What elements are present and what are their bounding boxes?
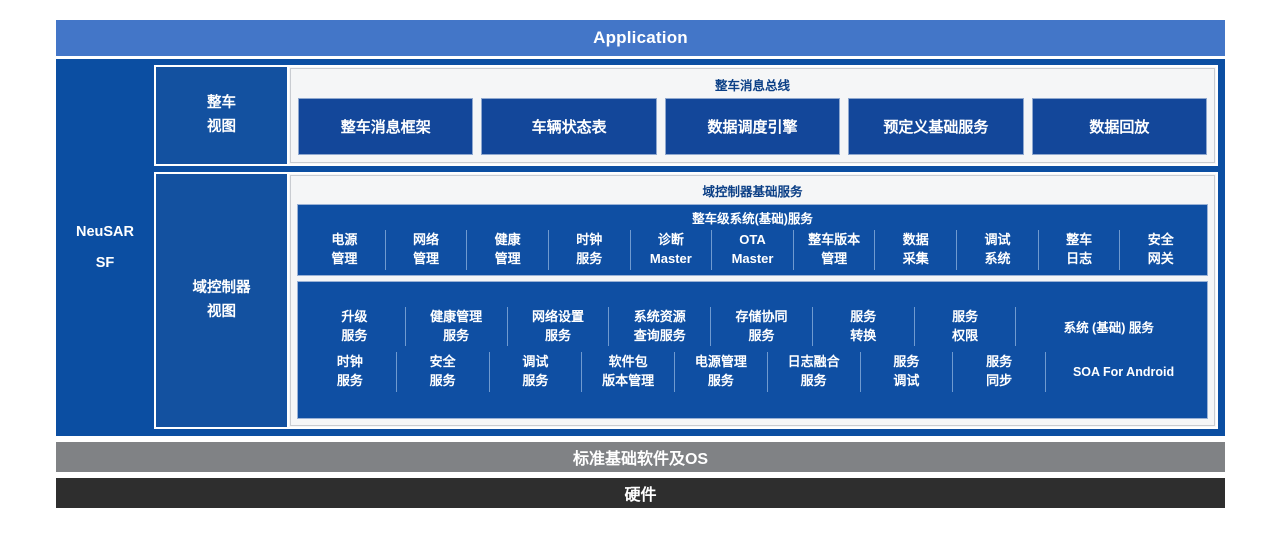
system-level-services-row-2: 时钟 服务 安全 服务 调试 服务 — [304, 352, 1201, 392]
vehicle-message-bus-items: 整车消息框架 车辆状态表 数据调度引擎 预定义基础服务 数据回放 — [298, 98, 1207, 155]
service-ota-master[interactable]: OTA Master — [712, 230, 794, 270]
service-log-fusion[interactable]: 日志融合 服务 — [768, 352, 861, 392]
service-line2: 日志 — [1066, 250, 1092, 269]
service-sync[interactable]: 服务 同步 — [953, 352, 1046, 392]
service-line2: 服务 — [749, 327, 775, 346]
bus-item-predefined-base-service[interactable]: 预定义基础服务 — [848, 98, 1023, 155]
service-line1: 安全 — [430, 353, 456, 372]
service-line2: 查询服务 — [634, 327, 686, 346]
neusar-sf-label-line1: NeuSAR — [76, 217, 134, 247]
service-line2: 服务 — [801, 372, 827, 391]
service-line2: 管理 — [413, 250, 439, 269]
service-line2: 服务 — [522, 372, 548, 391]
service-line1: 日志融合 — [788, 353, 840, 372]
service-line1: 电源 — [331, 231, 357, 250]
service-system-resource-query[interactable]: 系统资源 查询服务 — [609, 307, 711, 347]
service-line1: 网络设置 — [532, 308, 584, 327]
hardware-label: 硬件 — [624, 481, 656, 505]
service-power-management[interactable]: 电源 管理 — [304, 230, 386, 270]
vehicle-level-services-row: 电源 管理 网络 管理 健康 管理 — [304, 230, 1201, 270]
service-line1: 网络 — [413, 231, 439, 250]
service-clock-sys[interactable]: 时钟 服务 — [304, 352, 397, 392]
service-line1: 健康 — [495, 231, 521, 250]
vehicle-level-services-block: 整车级系统(基础)服务 电源 管理 网络 管理 — [297, 204, 1208, 276]
neusar-sf-label-line2: SF — [96, 248, 115, 278]
service-line1: 诊断 — [658, 231, 684, 250]
domain-controller-view-label-line2: 视图 — [207, 301, 236, 325]
service-line2: 同步 — [986, 372, 1012, 391]
domain-controller-view-row: 域控制器 视图 域控制器基础服务 整车级系统(基础)服务 电源 — [154, 172, 1218, 429]
service-line2: 转换 — [850, 327, 876, 346]
service-line1: 时钟 — [576, 231, 602, 250]
service-line2: 版本管理 — [602, 372, 654, 391]
system-base-services-caption: 系统 (基础) 服务 — [1016, 307, 1201, 347]
service-line2: 权限 — [952, 327, 978, 346]
service-line2: 系统 — [984, 250, 1010, 269]
service-line1: 系统资源 — [634, 308, 686, 327]
service-line1: 升级 — [341, 308, 367, 327]
standard-base-software-os-label: 标准基础软件及OS — [573, 445, 708, 469]
service-line2: 服务 — [430, 372, 456, 391]
service-line1: 安全 — [1148, 231, 1174, 250]
service-line2: 服务 — [443, 327, 469, 346]
service-debug-system[interactable]: 调试 系统 — [957, 230, 1039, 270]
service-line1: 调试 — [522, 353, 548, 372]
domain-controller-view-content: 域控制器基础服务 整车级系统(基础)服务 电源 管理 — [289, 174, 1216, 427]
service-line2: 采集 — [903, 250, 929, 269]
service-line2: 管理 — [495, 250, 521, 269]
standard-base-software-os-bar: 标准基础软件及OS — [56, 442, 1225, 472]
service-line2: 服务 — [708, 372, 734, 391]
service-upgrade[interactable]: 升级 服务 — [304, 307, 406, 347]
service-line1: OTA — [739, 231, 765, 250]
service-diagnostic-master[interactable]: 诊断 Master — [631, 230, 713, 270]
service-line1: 调试 — [984, 231, 1010, 250]
service-line2: 服务 — [545, 327, 571, 346]
domain-controller-view-label: 域控制器 视图 — [156, 174, 289, 427]
system-level-services-row-1: 升级 服务 健康管理 服务 网络设置 服务 — [304, 307, 1201, 347]
vehicle-view-content: 整车消息总线 整车消息框架 车辆状态表 数据调度引擎 预定义基础服务 数据回放 — [289, 67, 1216, 164]
vehicle-view-label-line2: 视图 — [207, 116, 236, 140]
service-line2: Master — [650, 250, 692, 269]
application-layer-bar: Application — [56, 20, 1225, 56]
bus-item-vehicle-state-table[interactable]: 车辆状态表 — [481, 98, 656, 155]
service-line2: Master — [732, 250, 774, 269]
service-conversion[interactable]: 服务 转换 — [813, 307, 915, 347]
service-power-management-sys[interactable]: 电源管理 服务 — [675, 352, 768, 392]
system-level-services-block: 升级 服务 健康管理 服务 网络设置 服务 — [297, 281, 1208, 419]
service-line2: 服务 — [341, 327, 367, 346]
soa-for-android-caption: SOA For Android — [1046, 352, 1201, 392]
vehicle-message-bus-panel: 整车消息总线 整车消息框架 车辆状态表 数据调度引擎 预定义基础服务 数据回放 — [290, 68, 1215, 163]
architecture-diagram: Application NeuSAR SF 整车 视图 整 — [56, 20, 1225, 508]
service-line1: 整车版本 — [808, 231, 860, 250]
service-debug-2[interactable]: 服务 调试 — [861, 352, 954, 392]
service-line1: 健康管理 — [430, 308, 482, 327]
service-software-package-version-management[interactable]: 软件包 版本管理 — [582, 352, 675, 392]
service-line1: 存储协同 — [736, 308, 788, 327]
service-storage-collaboration[interactable]: 存储协同 服务 — [711, 307, 813, 347]
application-layer-label: Application — [593, 28, 688, 48]
service-line1: 服务 — [893, 353, 919, 372]
service-health-management-sys[interactable]: 健康管理 服务 — [406, 307, 508, 347]
vehicle-view-label: 整车 视图 — [156, 67, 289, 164]
service-vehicle-version-management[interactable]: 整车版本 管理 — [794, 230, 876, 270]
service-line1: 时钟 — [337, 353, 363, 372]
hardware-bar: 硬件 — [56, 478, 1225, 508]
service-permission[interactable]: 服务 权限 — [915, 307, 1017, 347]
bus-item-data-scheduling-engine[interactable]: 数据调度引擎 — [665, 98, 840, 155]
diagram-canvas: Application NeuSAR SF 整车 视图 整 — [0, 0, 1280, 536]
domain-controller-view-label-line1: 域控制器 — [193, 277, 251, 301]
vehicle-level-services-heading: 整车级系统(基础)服务 — [304, 208, 1201, 230]
service-line2: 服务 — [576, 250, 602, 269]
service-network-settings[interactable]: 网络设置 服务 — [508, 307, 610, 347]
service-line2: 服务 — [337, 372, 363, 391]
vehicle-message-bus-title: 整车消息总线 — [298, 73, 1207, 98]
domain-controller-base-services-panel: 域控制器基础服务 整车级系统(基础)服务 电源 管理 — [290, 175, 1215, 426]
domain-controller-base-services-title: 域控制器基础服务 — [297, 179, 1208, 204]
service-line2: 管理 — [821, 250, 847, 269]
bus-item-data-playback[interactable]: 数据回放 — [1032, 98, 1207, 155]
service-line1: 服务 — [952, 308, 978, 327]
views-column: 整车 视图 整车消息总线 整车消息框架 车辆状态表 数据调度引擎 预定义基础服务… — [154, 59, 1225, 436]
service-line1: 软件包 — [609, 353, 648, 372]
service-data-collection[interactable]: 数据 采集 — [875, 230, 957, 270]
service-vehicle-log[interactable]: 整车 日志 — [1039, 230, 1121, 270]
service-health-management[interactable]: 健康 管理 — [467, 230, 549, 270]
bus-item-message-framework[interactable]: 整车消息框架 — [298, 98, 473, 155]
vehicle-view-label-line1: 整车 — [207, 92, 236, 116]
service-clock[interactable]: 时钟 服务 — [549, 230, 631, 270]
neusar-sf-body: NeuSAR SF 整车 视图 整车消息总线 整车消息框架 — [56, 59, 1225, 436]
service-debug[interactable]: 调试 服务 — [490, 352, 583, 392]
service-line2: 管理 — [331, 250, 357, 269]
service-line2: 网关 — [1148, 250, 1174, 269]
service-line1: 整车 — [1066, 231, 1092, 250]
vehicle-view-row: 整车 视图 整车消息总线 整车消息框架 车辆状态表 数据调度引擎 预定义基础服务… — [154, 65, 1218, 166]
service-line1: 电源管理 — [695, 353, 747, 372]
service-security[interactable]: 安全 服务 — [397, 352, 490, 392]
service-line1: 数据 — [903, 231, 929, 250]
service-line1: 服务 — [986, 353, 1012, 372]
service-line2: 调试 — [893, 372, 919, 391]
service-security-gateway[interactable]: 安全 网关 — [1120, 230, 1201, 270]
neusar-sf-label: NeuSAR SF — [56, 59, 154, 436]
service-network-management[interactable]: 网络 管理 — [386, 230, 468, 270]
service-line1: 服务 — [850, 308, 876, 327]
